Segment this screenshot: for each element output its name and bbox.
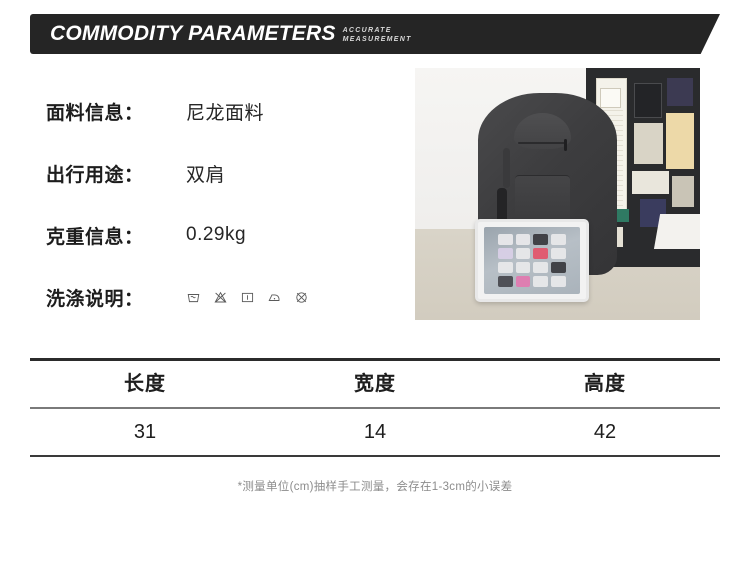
table-header-row: 长度 宽度 高度	[30, 361, 720, 407]
care-symbol-group	[186, 290, 309, 305]
column-header-length: 长度	[30, 361, 260, 407]
banner-subtitle-line1: ACCURATE	[343, 27, 392, 34]
photo-app-icon	[551, 262, 566, 273]
tumble-dry-icon	[240, 290, 255, 305]
photo-app-icon	[533, 234, 548, 245]
photo-app-icon	[498, 262, 513, 273]
spec-label-weight: 克重信息：	[46, 222, 186, 249]
table-value-row: 31 14 42	[30, 409, 720, 455]
photo-app-icon	[533, 276, 548, 287]
spec-value-usage: 双肩	[186, 160, 225, 187]
banner-shape: COMMODITY PARAMETERS ACCURATE MEASUREMEN…	[30, 14, 720, 54]
banner-subtitle-line2: MEASUREMENT	[343, 36, 412, 43]
photo-backpack-zipper-pull	[564, 139, 567, 151]
page-title: COMMODITY PARAMETERS	[50, 22, 336, 46]
photo-board-note	[634, 123, 663, 163]
photo-board-note	[634, 83, 662, 118]
spec-value-weight: 0.29kg	[186, 224, 246, 246]
photo-board-note	[666, 113, 695, 168]
hand-wash-icon	[186, 290, 201, 305]
photo-backpack-side-pocket	[503, 148, 510, 188]
photo-app-icon	[551, 248, 566, 259]
photo-app-icon	[516, 248, 531, 259]
spec-label-washing: 洗涤说明：	[46, 284, 186, 311]
no-dry-clean-icon	[294, 290, 309, 305]
photo-app-icon	[498, 276, 513, 287]
table-bottom-rule	[30, 455, 720, 457]
photo-tablet	[475, 219, 589, 302]
spec-row-usage: 出行用途： 双肩	[46, 142, 396, 204]
photo-board-note	[600, 88, 621, 108]
spec-label-usage: 出行用途：	[46, 160, 186, 187]
photo-app-icon	[551, 276, 566, 287]
iron-icon	[267, 290, 282, 305]
column-header-height: 高度	[490, 361, 720, 407]
no-bleach-icon	[213, 290, 228, 305]
photo-app-icon	[516, 276, 531, 287]
photo-backpack-zipper	[518, 142, 567, 144]
header-banner: COMMODITY PARAMETERS ACCURATE MEASUREMEN…	[30, 14, 720, 54]
spec-row-washing: 洗涤说明：	[46, 266, 396, 328]
spec-label-fabric: 面料信息：	[46, 98, 186, 125]
photo-app-icon	[551, 234, 566, 245]
photo-app-icon	[533, 248, 548, 259]
value-length: 31	[30, 409, 260, 455]
photo-board-note	[632, 171, 669, 194]
photo-app-icon	[498, 248, 513, 259]
spec-row-weight: 克重信息： 0.29kg	[46, 204, 396, 266]
photo-app-icon	[533, 262, 548, 273]
photo-app-icon	[516, 234, 531, 245]
photo-board-note	[667, 78, 693, 106]
dimensions-table: 长度 宽度 高度 31 14 42	[30, 358, 720, 457]
photo-app-icon	[498, 234, 513, 245]
column-header-width: 宽度	[260, 361, 490, 407]
measurement-footnote: *测量单位(cm)抽样手工测量，会存在1-3cm的小误差	[0, 478, 750, 494]
value-width: 14	[260, 409, 490, 455]
spec-value-fabric: 尼龙面料	[186, 98, 264, 125]
spec-row-fabric: 面料信息： 尼龙面料	[46, 80, 396, 142]
value-height: 42	[490, 409, 720, 455]
product-photo	[415, 68, 700, 320]
photo-tablet-screen	[484, 227, 580, 294]
spec-list: 面料信息： 尼龙面料 出行用途： 双肩 克重信息： 0.29kg 洗涤说明：	[46, 80, 396, 328]
photo-laptop-stand	[654, 214, 700, 249]
photo-app-icon	[516, 262, 531, 273]
photo-board-note	[672, 176, 695, 206]
banner-subtitle: ACCURATE MEASUREMENT	[343, 26, 412, 44]
